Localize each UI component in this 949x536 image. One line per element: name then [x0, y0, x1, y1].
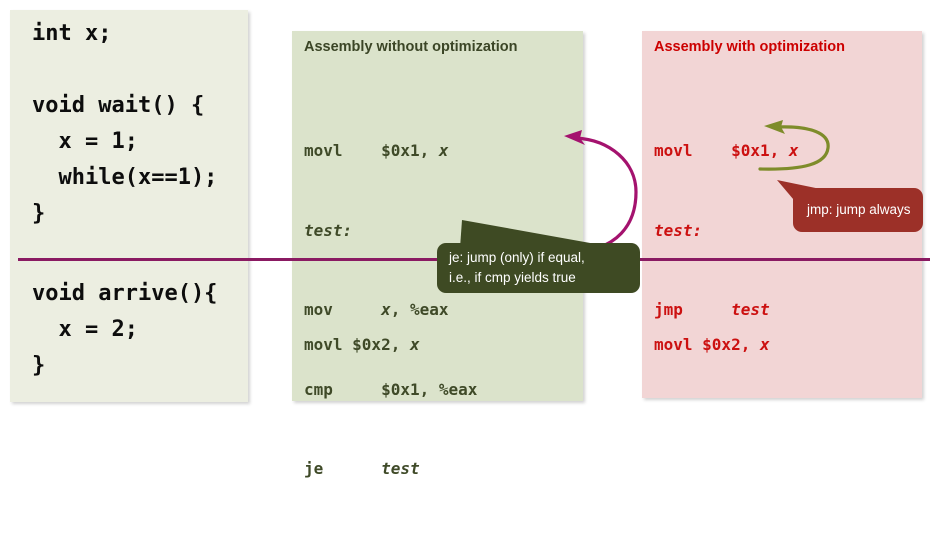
callout-je: je: jump (only) if equal, i.e., if cmp y…	[437, 243, 640, 293]
c-source-panel: int x; void wait() { x = 1; while(x==1);…	[10, 10, 248, 402]
asm-line: movl $0x1, x	[654, 138, 799, 165]
callout-jmp: jmp: jump always	[793, 188, 923, 232]
asm-label-test: test:	[654, 218, 799, 245]
asm-line: movl $0x1, x	[304, 138, 477, 165]
c-source-wait-function: int x; void wait() { x = 1; while(x==1);…	[32, 16, 217, 232]
asm-line: movl $0x2, x	[654, 332, 770, 359]
assembly-without-optimization-title: Assembly without optimization	[304, 39, 517, 55]
assembly-with-optimization-title: Assembly with optimization	[654, 39, 845, 55]
callout-je-line1: je: jump (only) if equal,	[449, 248, 628, 268]
c-source-arrive-function: void arrive(){ x = 2; }	[32, 276, 217, 384]
assembly-with-optimization-arrive-code: movl $0x2, x	[654, 279, 770, 412]
asm-label-test: test:	[304, 218, 477, 245]
assembly-without-optimization-arrive-code: movl $0x2, x	[304, 279, 420, 412]
asm-line: movl $0x2, x	[304, 332, 420, 359]
assembly-without-optimization-panel: Assembly without optimization movl $0x1,…	[292, 31, 583, 401]
callout-jmp-text: jmp: jump always	[807, 200, 911, 220]
asm-line: je test	[304, 456, 477, 483]
callout-je-line2: i.e., if cmp yields true	[449, 268, 628, 288]
